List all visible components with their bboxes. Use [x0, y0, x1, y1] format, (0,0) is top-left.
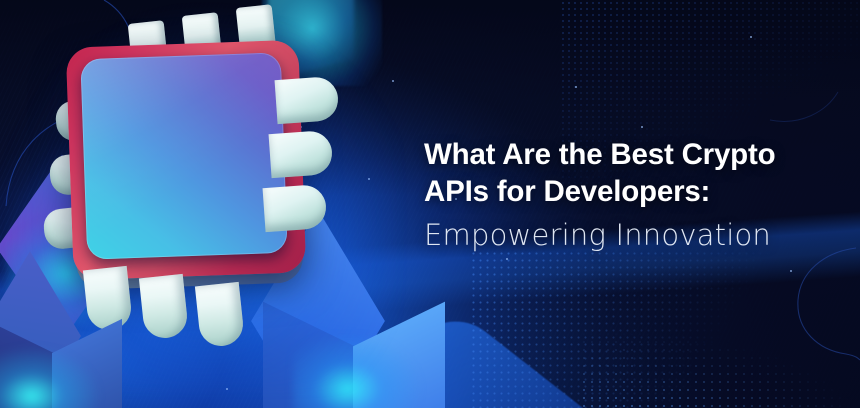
headline-line-2: APIs for Developers:: [424, 173, 848, 210]
dot-pattern-bottom: [580, 330, 860, 408]
chip-highlight: [80, 52, 287, 259]
sparkle-dot: [226, 388, 228, 390]
headline-line-1: What Are the Best Crypto: [424, 136, 848, 173]
sparkle-dot: [641, 126, 643, 128]
subheadline: Empowering Innovation: [424, 215, 848, 255]
cube-bottom-left-glow: [0, 342, 106, 408]
sparkle-dot: [506, 258, 508, 260]
sparkle-dot: [790, 270, 792, 272]
sparkle-dot: [750, 36, 752, 38]
hero-banner: What Are the Best Crypto APIs for Develo…: [0, 0, 860, 408]
cube-bottom-left: [0, 288, 122, 408]
sparkle-dot: [575, 86, 577, 88]
headline-block: What Are the Best Crypto APIs for Develo…: [424, 136, 848, 255]
